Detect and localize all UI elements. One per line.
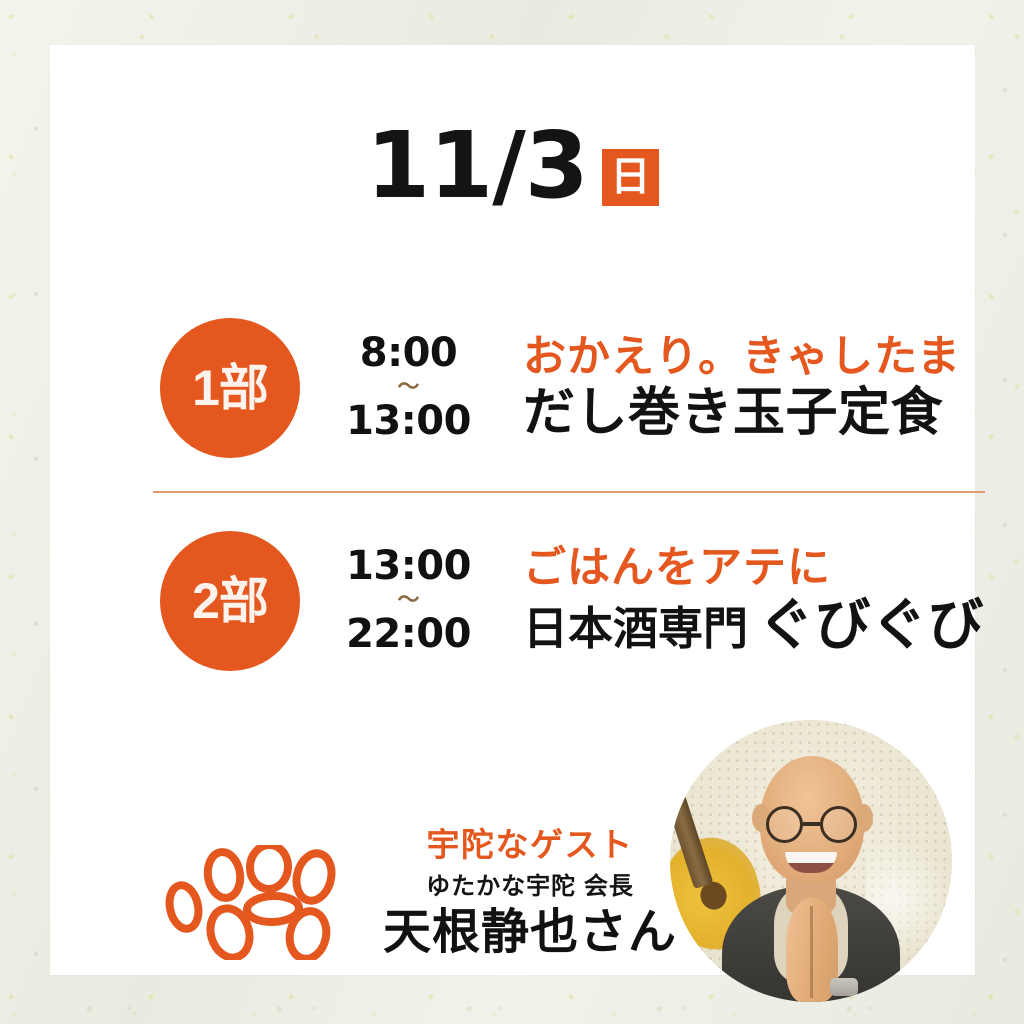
titles-block-2: ごはんをアテに 日本酒専門 ぐびぐび	[523, 543, 984, 659]
time-separator-2: 〜	[397, 589, 419, 611]
part-badge-2: 2部	[160, 531, 300, 671]
titles-block-1: おかえり。きゃしたま だし巻き玉子定食	[523, 332, 961, 443]
program-title-2-emph: ぐびぐび	[758, 593, 984, 658]
guest-section: 宇陀なゲスト ゆたかな宇陀 会長 天根静也さん	[50, 705, 975, 1005]
guest-role: ゆたかな宇陀 会長	[380, 871, 680, 902]
guest-text-block: 宇陀なゲスト ゆたかな宇陀 会長 天根静也さん	[380, 825, 680, 961]
guest-portrait-photo	[670, 720, 952, 1002]
glasses-lens-left	[766, 806, 803, 843]
section-divider	[153, 491, 985, 493]
program-row: 2部 13:00 〜 22:00 ごはんをアテに 日本酒専門 ぐびぐび	[160, 523, 990, 678]
guest-wristwatch	[830, 978, 858, 996]
program-title-2: 日本酒専門 ぐびぐび	[523, 593, 984, 658]
program-title-2-lead: 日本酒専門	[523, 603, 748, 655]
time-block-2: 13:00 〜 22:00	[316, 545, 501, 656]
glasses-lens-right	[820, 806, 857, 843]
time-block-1: 8:00 〜 13:00	[316, 332, 501, 443]
guest-ear-right	[855, 804, 873, 832]
program-subtitle-1: おかえり。きゃしたま	[523, 332, 961, 383]
program-subtitle-2: ごはんをアテに	[523, 543, 984, 594]
date-header: 11/3 日	[50, 120, 975, 212]
end-time-1: 13:00	[346, 400, 471, 443]
glasses-bridge	[803, 822, 820, 826]
part-badge-1: 1部	[160, 318, 300, 458]
paw-print-icon	[162, 845, 337, 960]
end-time-2: 22:00	[346, 613, 471, 656]
guest-label: 宇陀なゲスト	[380, 825, 680, 865]
guest-name: 天根静也さん	[380, 904, 680, 962]
guest-hand-crease	[810, 906, 813, 998]
start-time-2: 13:00	[346, 545, 471, 588]
start-time-1: 8:00	[360, 332, 458, 375]
program-title-1: だし巻き玉子定食	[523, 383, 961, 443]
weekday-badge: 日	[602, 149, 659, 206]
time-separator-1: 〜	[397, 376, 419, 398]
guest-teeth	[785, 852, 837, 863]
poster-card: 11/3 日 1部 8:00 〜 13:00 おかえり。きゃしたま だし巻き玉子…	[50, 45, 975, 975]
event-date: 11/3	[366, 120, 588, 212]
program-row: 1部 8:00 〜 13:00 おかえり。きゃしたま だし巻き玉子定食	[160, 310, 990, 465]
